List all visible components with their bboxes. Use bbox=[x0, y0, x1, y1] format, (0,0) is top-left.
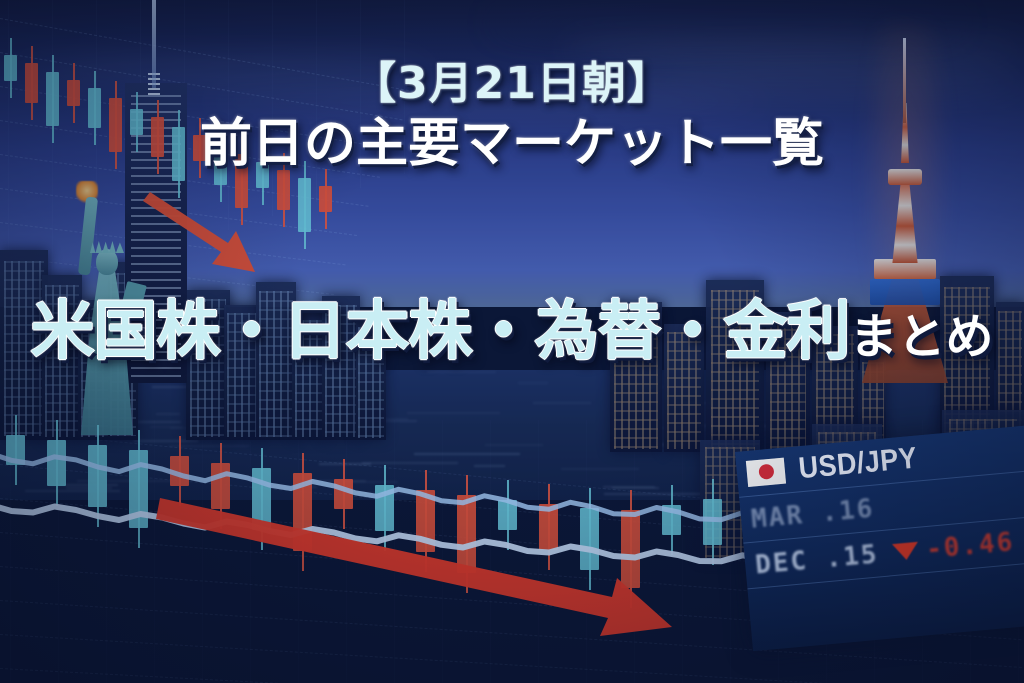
ticker-led-value: MAR .16 bbox=[750, 493, 876, 534]
downtrend-arrow-lower bbox=[156, 498, 672, 636]
headline-block: 米国株・日本株・為替・金利まとめ bbox=[0, 280, 1024, 372]
downtrend-arrow-upper bbox=[143, 192, 255, 272]
headline-tail: まとめ bbox=[849, 309, 993, 365]
forex-ticker-board: USD/JPY MAR .16 DEC .15 -0.46 bbox=[735, 425, 1024, 651]
date-label: 【3月21日朝】 bbox=[0, 62, 1024, 106]
headline-main: 米国株・日本株・為替・金利 bbox=[30, 295, 849, 369]
thumbnail-canvas: USD/JPY MAR .16 DEC .15 -0.46 【3月21日朝】 前… bbox=[0, 0, 1024, 683]
title-block: 【3月21日朝】 前日の主要マーケット一覧 bbox=[0, 62, 1024, 170]
ticker-led-change: -0.46 bbox=[925, 527, 1016, 565]
currency-pair-label: USD/JPY bbox=[797, 441, 918, 486]
ticker-led-value: DEC .15 bbox=[754, 539, 880, 580]
subtitle-label: 前日の主要マーケット一覧 bbox=[0, 118, 1024, 170]
japan-flag-icon bbox=[746, 457, 786, 486]
down-triangle-icon bbox=[892, 542, 919, 561]
